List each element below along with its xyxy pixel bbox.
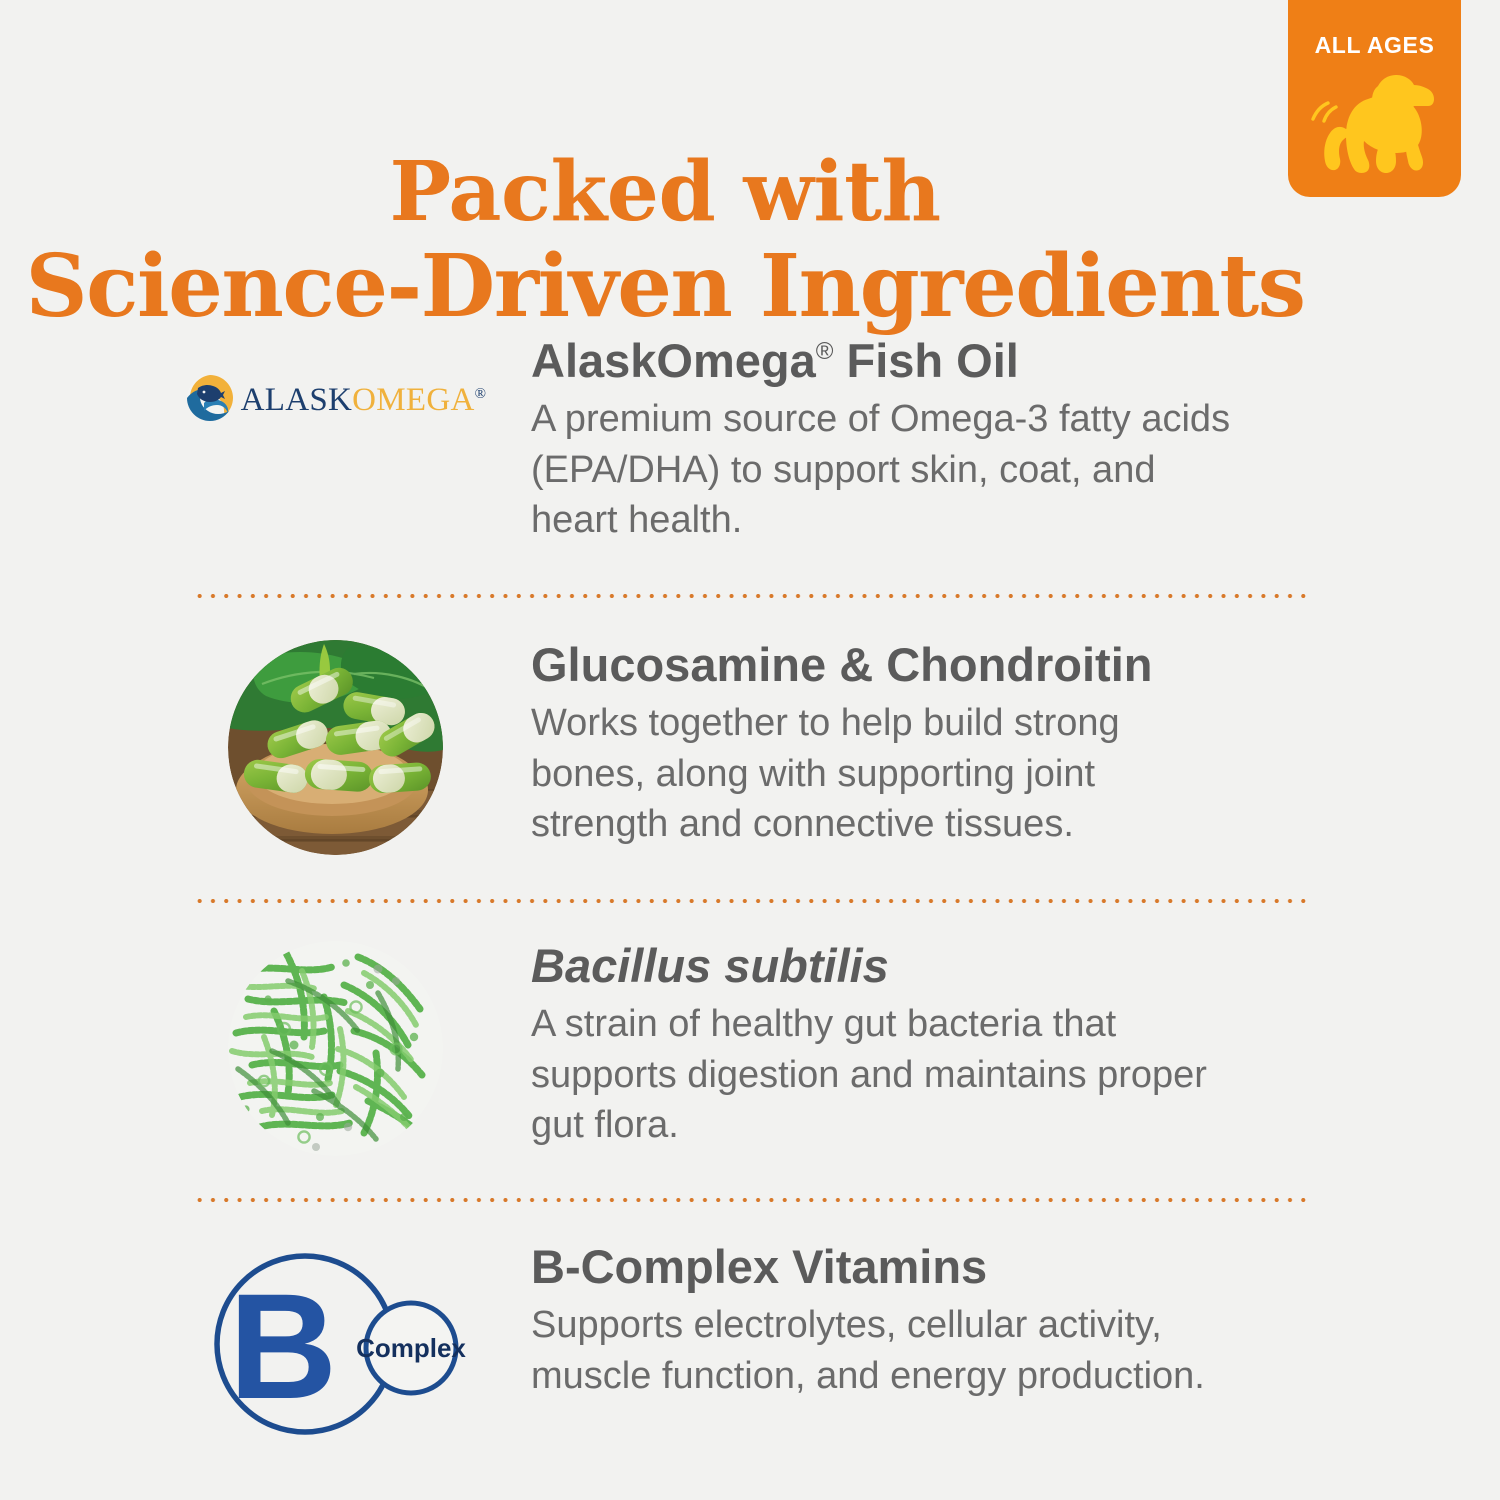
ingredient-body: Bacillus subtilis A strain of healthy gu… bbox=[485, 941, 1500, 1151]
complex-word: Complex bbox=[356, 1333, 466, 1363]
ingredient-description: A premium source of Omega-3 fatty acids … bbox=[531, 394, 1240, 546]
section-divider bbox=[193, 897, 1310, 905]
headline-line-2: Science-Driven Ingredients bbox=[0, 239, 1330, 335]
alaskomega-wordmark: ALASKOMEGA® bbox=[241, 382, 487, 419]
ingredient-body: B-Complex Vitamins Supports electrolytes… bbox=[485, 1242, 1500, 1401]
ingredient-media bbox=[185, 640, 485, 855]
ingredient-row-glucosamine: Glucosamine & Chondroitin Works together… bbox=[0, 640, 1500, 855]
ingredient-title: Bacillus subtilis bbox=[531, 941, 1240, 990]
section-divider bbox=[193, 592, 1310, 600]
ingredient-row-fish-oil: ALASKOMEGA® AlaskOmega® Fish Oil A premi… bbox=[0, 336, 1500, 546]
registered-mark: ® bbox=[816, 338, 834, 365]
ingredient-row-b-complex: B Complex B-Complex Vitamins Supports el… bbox=[0, 1242, 1500, 1440]
ingredient-title-text: AlaskOmega bbox=[531, 334, 816, 387]
all-ages-label: ALL AGES bbox=[1315, 34, 1435, 57]
ingredient-media bbox=[185, 941, 485, 1156]
section-divider bbox=[193, 1196, 1310, 1204]
ingredient-body: Glucosamine & Chondroitin Works together… bbox=[485, 640, 1500, 850]
alaskomega-logo: ALASKOMEGA® bbox=[184, 372, 487, 429]
ingredient-description: Supports electrolytes, cellular activity… bbox=[531, 1300, 1240, 1401]
headline-line-1: Packed with bbox=[0, 147, 1330, 239]
ingredient-body: AlaskOmega® Fish Oil A premium source of… bbox=[485, 336, 1500, 546]
ingredient-title: AlaskOmega® Fish Oil bbox=[531, 336, 1240, 385]
alaskomega-wordmark-omega: OMEGA bbox=[352, 382, 475, 418]
ingredient-media: ALASKOMEGA® bbox=[185, 336, 485, 429]
ingredient-list: ALASKOMEGA® AlaskOmega® Fish Oil A premi… bbox=[0, 336, 1500, 1440]
alaskomega-wordmark-alask: ALASK bbox=[241, 382, 353, 418]
page-title: Packed with Science-Driven Ingredients bbox=[0, 147, 1330, 335]
ingredient-title: B-Complex Vitamins bbox=[531, 1242, 1240, 1291]
ingredient-title: Glucosamine & Chondroitin bbox=[531, 640, 1240, 689]
b-complex-logo: B Complex bbox=[213, 1250, 468, 1440]
ingredient-media: B Complex bbox=[185, 1242, 485, 1440]
alaskomega-mark-icon bbox=[184, 372, 236, 429]
ingredient-title-suffix: Fish Oil bbox=[833, 334, 1018, 387]
ingredient-description: Works together to help build strong bone… bbox=[531, 698, 1240, 850]
ingredient-row-bacillus: Bacillus subtilis A strain of healthy gu… bbox=[0, 941, 1500, 1156]
b-letter: B bbox=[228, 1262, 336, 1430]
bacteria-microscopy-photo bbox=[228, 941, 443, 1156]
green-capsules-photo bbox=[228, 640, 443, 855]
ingredient-description: A strain of healthy gut bacteria that su… bbox=[531, 999, 1240, 1151]
